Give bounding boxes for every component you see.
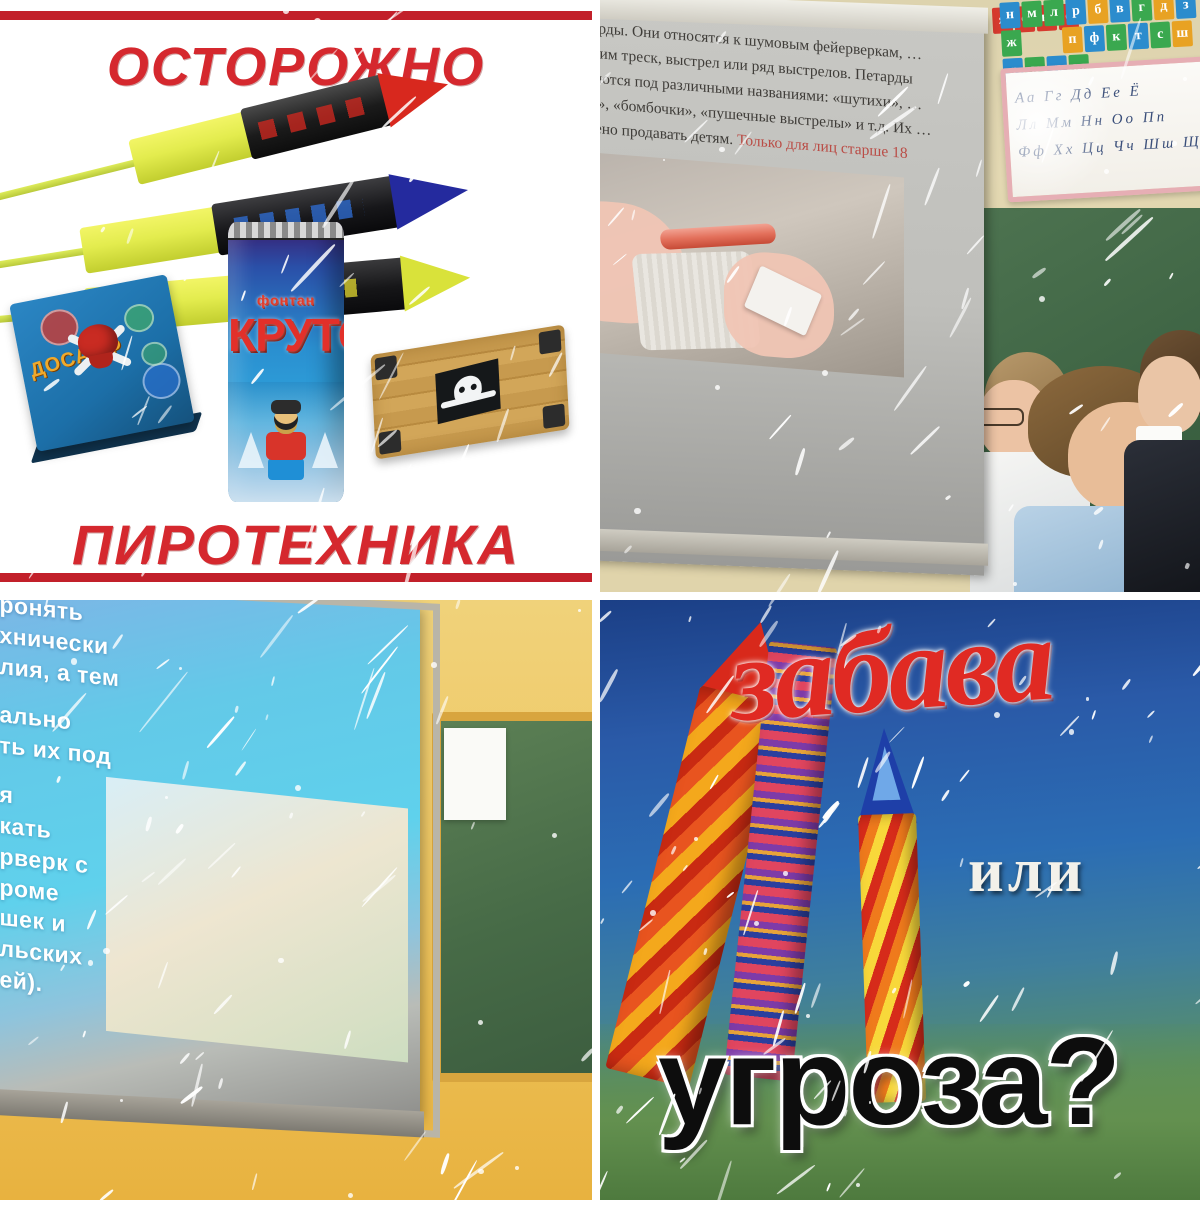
- skull-icon: [67, 319, 132, 383]
- can-character: [262, 408, 310, 480]
- head: [1138, 356, 1200, 434]
- can-lid: [228, 222, 344, 240]
- panel-fun-or-threat: забава или угроза?: [600, 600, 1200, 1200]
- projection-screen: …арды. Они относятся к шумовым фейерверк…: [600, 0, 984, 575]
- skull-eye: [459, 386, 465, 393]
- poster-background: ОСТОРОЖНО: [0, 0, 592, 592]
- pack-emblem: [139, 360, 183, 403]
- alphabet-cell: н: [999, 2, 1020, 29]
- rocket-cone-red: [377, 57, 455, 127]
- word-threat: угроза?: [658, 1020, 1119, 1144]
- alphabet-cell: к: [1106, 24, 1127, 51]
- can-tree: [238, 432, 264, 468]
- alphabet-cell: д: [1153, 0, 1174, 20]
- alphabet-cell: з: [1175, 0, 1196, 19]
- pack-face: ДОСААФ: [9, 274, 195, 452]
- poster-glare: [1002, 67, 1117, 201]
- slide-text: …арды. Они относятся к шумовым фейерверк…: [600, 19, 931, 149]
- rocket-tube: [79, 205, 230, 273]
- poster-headline: ОСТОРОЖНО: [0, 36, 592, 98]
- pirate-flag-icon: [435, 358, 501, 424]
- skull-eye: [471, 383, 477, 390]
- rocket-label: [258, 96, 369, 140]
- alphabet-cell: с: [1150, 21, 1171, 48]
- alphabet-cell: п: [1062, 26, 1083, 53]
- alphabet-cell: ж: [1001, 30, 1022, 57]
- rocket-cone-blue: [389, 162, 473, 229]
- crate-corner: [539, 329, 562, 355]
- cursive-alphabet-poster: Аа Гг Дд Ее Ё Лл Мм Нн Оо Пп Фф Хх Цц Чч…: [1000, 56, 1200, 203]
- alphabet-cell: т: [1128, 23, 1149, 50]
- alphabet-cell: м: [1021, 1, 1042, 28]
- alphabet-cell: ф: [1084, 25, 1105, 52]
- character-legs: [268, 458, 304, 480]
- wooden-crate: [370, 324, 569, 459]
- alphabet-cell: б: [1087, 0, 1108, 24]
- firework-cone-highlight: [871, 746, 901, 801]
- vest: [1124, 440, 1200, 592]
- alphabet-cell: л: [1043, 0, 1064, 26]
- character-hat: [271, 400, 301, 414]
- crate-corner: [375, 355, 398, 381]
- slide-text-block: …арды. Они относятся к шумовым фейерверк…: [600, 15, 932, 194]
- can-brand: КРУТО: [228, 308, 344, 362]
- photo-collage: ОСТОРОЖНО: [0, 0, 1200, 1200]
- alphabet-cell: в: [1109, 0, 1130, 23]
- panel-warning-poster: ОСТОРОЖНО: [0, 0, 592, 592]
- poster-rule-top: [0, 11, 592, 20]
- board-picture-card: [444, 728, 506, 820]
- blue-pack: ДОСААФ: [9, 274, 195, 452]
- pack-emblem: [122, 301, 157, 334]
- alphabet-cell: ш: [1172, 20, 1193, 47]
- panel-classroom-projection: я ё ю е н м л р б в г д з ж п ф к т с ш …: [600, 0, 1200, 592]
- student-girl-right: [1130, 330, 1200, 592]
- panel-girl-pointing: …ронять …хнически …лия, а тем …ально …ть…: [0, 600, 592, 1200]
- skull-jaw: [89, 352, 115, 370]
- crate-corner: [542, 403, 565, 429]
- crate-corner: [379, 429, 402, 455]
- character-body: [266, 432, 306, 460]
- petard-icon: [659, 223, 777, 250]
- word-or: или: [968, 836, 1086, 907]
- screen-frame: [0, 600, 440, 1138]
- rocket-cone-yellow: [400, 250, 473, 312]
- can-tree: [312, 432, 338, 468]
- alphabet-cell: р: [1065, 0, 1086, 25]
- alphabet-cell: г: [1131, 0, 1152, 22]
- firework-can: фонтан КРУТО: [228, 222, 344, 502]
- can-top-word: фонтан: [228, 292, 344, 308]
- poster-footline: ПИРОТЕХНИКА: [0, 512, 592, 577]
